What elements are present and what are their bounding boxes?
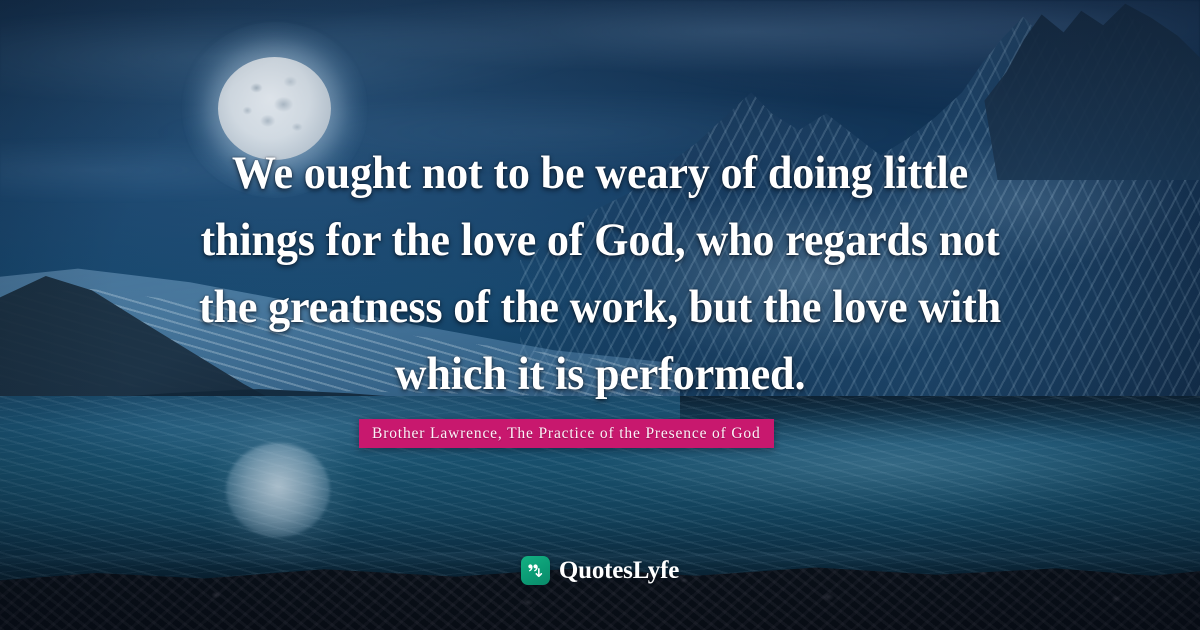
quote-line-1: We ought not to be weary of doing little (130, 140, 1070, 207)
quote-line-4: which it is performed. (130, 341, 1070, 408)
brand-name: QuotesLyfe (559, 557, 679, 585)
attribution-badge: Brother Lawrence, The Practice of the Pr… (359, 419, 774, 448)
quote-text-block: We ought not to be weary of doing little… (100, 140, 1100, 408)
quote-line-2: things for the love of God, who regards … (130, 207, 1070, 274)
attribution-text: Brother Lawrence, The Practice of the Pr… (372, 425, 761, 443)
brand-logo[interactable]: QuotesLyfe (0, 556, 1200, 585)
quote-mark-icon (521, 556, 550, 585)
overlay-content: We ought not to be weary of doing little… (0, 0, 1200, 630)
quote-image-canvas: We ought not to be weary of doing little… (0, 0, 1200, 630)
quote-line-3: the greatness of the work, but the love … (130, 274, 1070, 341)
